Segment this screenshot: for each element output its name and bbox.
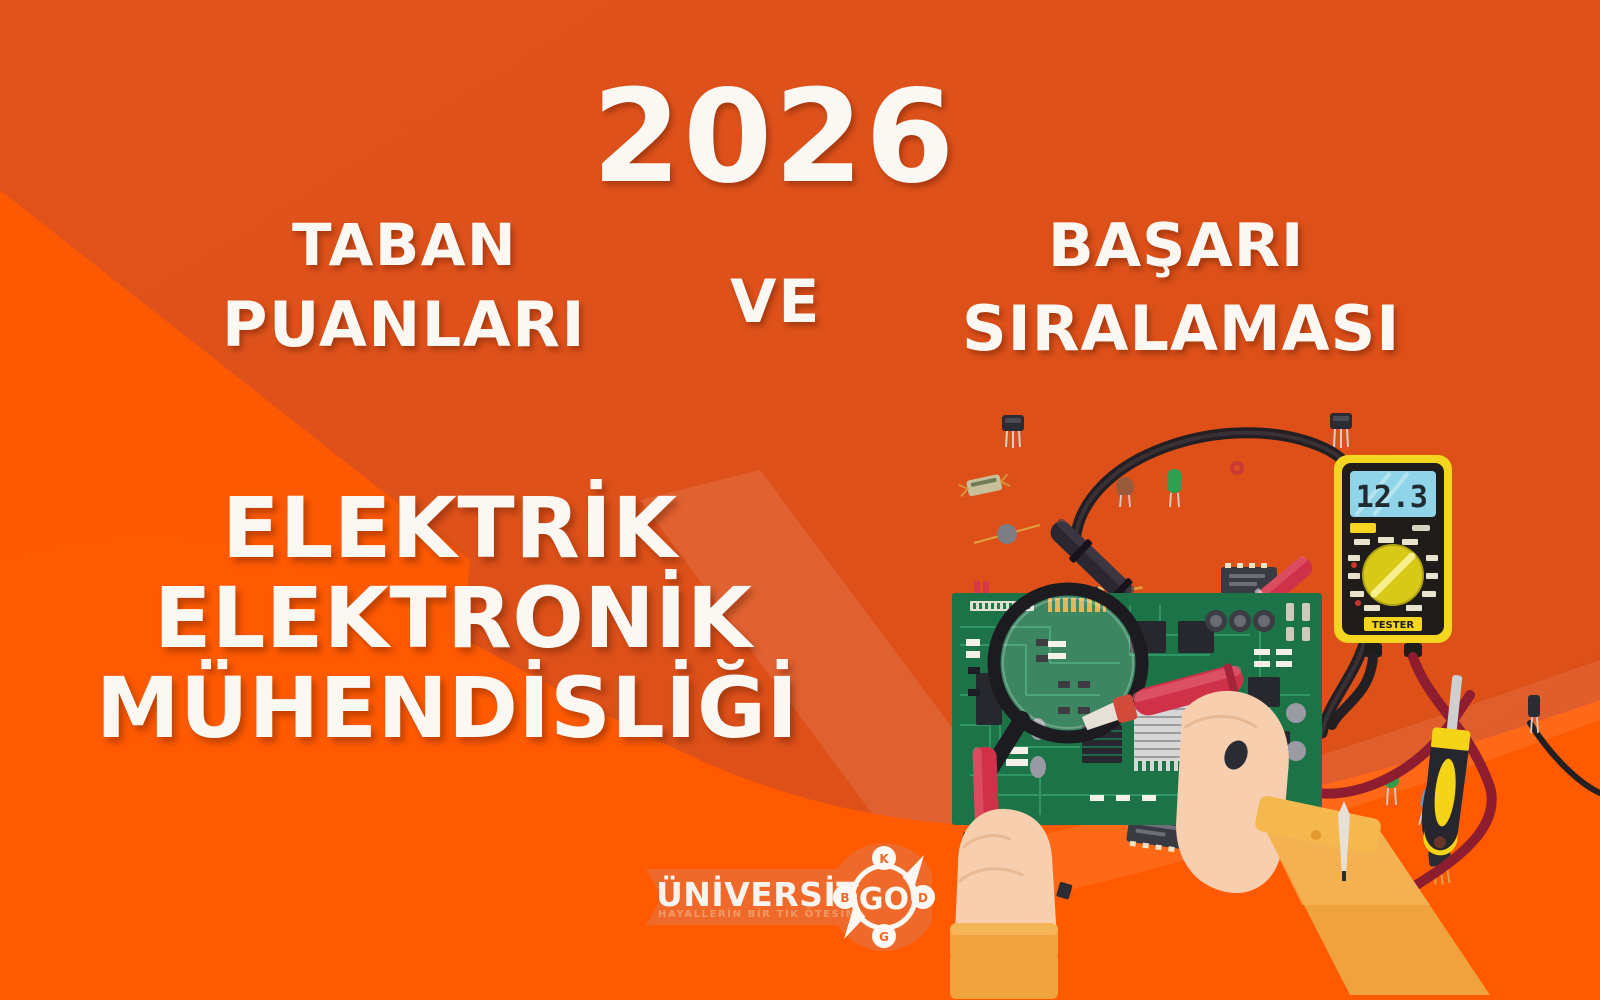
component-transistor-2 [1330,413,1352,448]
compass-label-east: D [918,891,928,905]
component-cap-green [1167,469,1182,507]
subtitle-siralamasi: SIRALAMASI [962,298,1400,360]
page-title-year: 2026 [592,74,956,202]
subtitle-basari: BAŞARI [1048,216,1304,276]
compass-icon: K D G B GO [832,845,936,949]
brand-logo[interactable]: ÜNİVERSİTE HAYALLERİN BİR TIK ÖTESİNDE K… [636,843,932,955]
component-inductor [958,472,1010,498]
subtitle-puanlari: PUANLARI [222,294,586,356]
component-diode [974,524,1040,544]
multimeter-label: TESTER [1372,620,1415,631]
electronics-illustration: 12.3 [930,395,1600,1000]
department-title: ELEKTRİK ELEKTRONİK MÜHENDİSLİĞİ [96,484,896,754]
hand-left [950,809,1058,999]
stray-wire [1530,723,1600,793]
compass-label-south: G [879,930,889,944]
subtitle-taban: TABAN [292,216,517,274]
component-transistor-1 [1002,415,1024,448]
department-line-3: MÜHENDİSLİĞİ [96,664,896,754]
compass-label-west: B [840,891,849,905]
component-cap-brown [1116,477,1134,507]
conjunction-ve: VE [730,272,821,332]
compass-badge-text: GO [859,882,909,917]
multimeter: 12.3 [1334,455,1452,657]
department-line-1: ELEKTRİK [222,484,896,574]
multimeter-reading: 12.3 [1356,480,1428,515]
department-line-2: ELEKTRONİK [154,574,896,664]
poster-canvas: 2026 TABAN PUANLARI VE BAŞARI SIRALAMASI… [0,0,1600,1000]
